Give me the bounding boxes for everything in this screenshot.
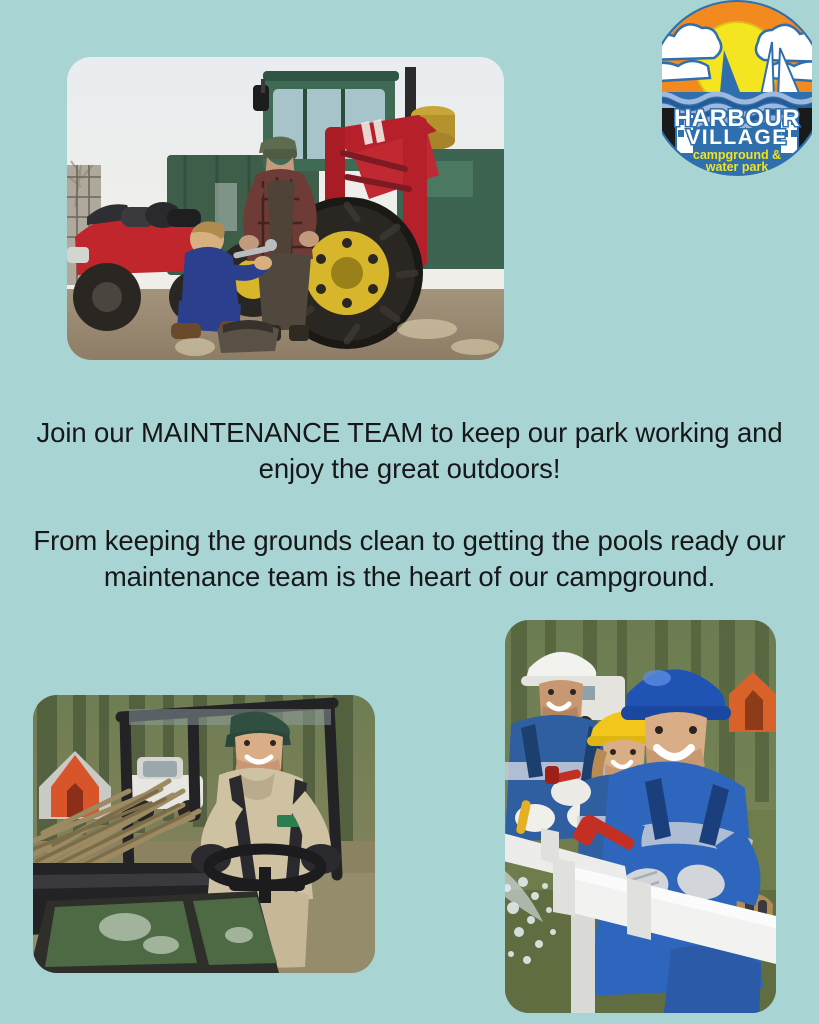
- tractor-scene: [67, 57, 504, 360]
- photo-tractor-repair: [67, 57, 504, 360]
- pipe-crew-scene: [505, 620, 776, 1013]
- logo-subtitle-line2: water park: [705, 160, 769, 174]
- harbour-village-logo[interactable]: HARBOUR VILLAGE campground & water park: [662, 0, 812, 184]
- utv-scene: [33, 695, 375, 973]
- logo-graphic: HARBOUR VILLAGE campground & water park: [662, 0, 812, 184]
- paragraph-spacer: [0, 487, 819, 523]
- utv-hood: [33, 891, 279, 973]
- flyer-canvas: HARBOUR VILLAGE campground & water park: [0, 0, 819, 1024]
- copy-paragraph-2: From keeping the grounds clean to gettin…: [0, 523, 819, 595]
- photo-pipe-crew: [505, 620, 776, 1013]
- photo-utv-brush-hauling: [33, 695, 375, 973]
- logo-title-line2: VILLAGE: [686, 126, 788, 149]
- copy-paragraph-1: Join our MAINTENANCE TEAM to keep our pa…: [0, 415, 819, 487]
- body-copy: Join our MAINTENANCE TEAM to keep our pa…: [0, 415, 819, 595]
